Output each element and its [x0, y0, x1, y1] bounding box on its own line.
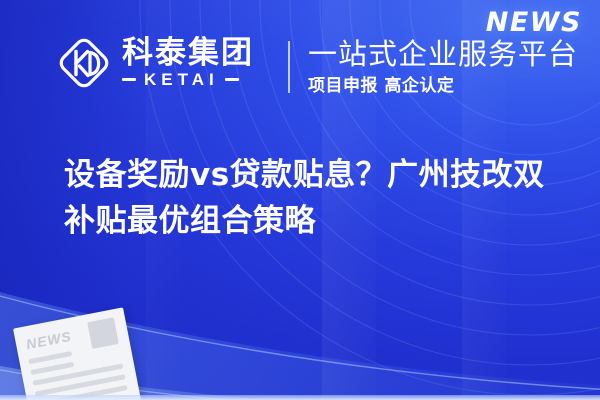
tagline-block: 一站式企业服务平台 项目申报 高企认定 — [308, 38, 578, 97]
logo-dash-right — [225, 78, 239, 81]
header-divider — [288, 41, 290, 93]
brand-logo[interactable]: 科泰集团 KETAI — [57, 36, 254, 90]
news-banner: 科泰集团 KETAI 一站式企业服务平台 项目申报 高企认定 NEWS 设备奖励… — [0, 0, 600, 400]
article-title-line-1: 设备奖励vs贷款贴息？广州技改双 — [64, 152, 569, 198]
article-title-line-2: 补贴最优组合策略 — [64, 198, 569, 244]
article-title: 设备奖励vs贷款贴息？广州技改双 补贴最优组合策略 — [64, 152, 569, 244]
brand-name-cn: 科泰集团 — [122, 38, 254, 69]
newspaper-thumbnail — [87, 317, 119, 349]
ketai-diamond-monogram-icon — [57, 36, 111, 90]
bottom-edge-highlight — [0, 395, 600, 400]
logo-dash-left — [122, 78, 136, 81]
brand-name-en-row: KETAI — [122, 71, 254, 88]
tagline-main: 一站式企业服务平台 — [308, 38, 578, 71]
news-badge: NEWS — [486, 9, 582, 36]
brand-name-en: KETAI — [142, 71, 219, 88]
banner-header: 科泰集团 KETAI 一站式企业服务平台 项目申报 高企认定 NEWS — [0, 0, 600, 130]
tagline-sub: 项目申报 高企认定 — [308, 76, 578, 96]
